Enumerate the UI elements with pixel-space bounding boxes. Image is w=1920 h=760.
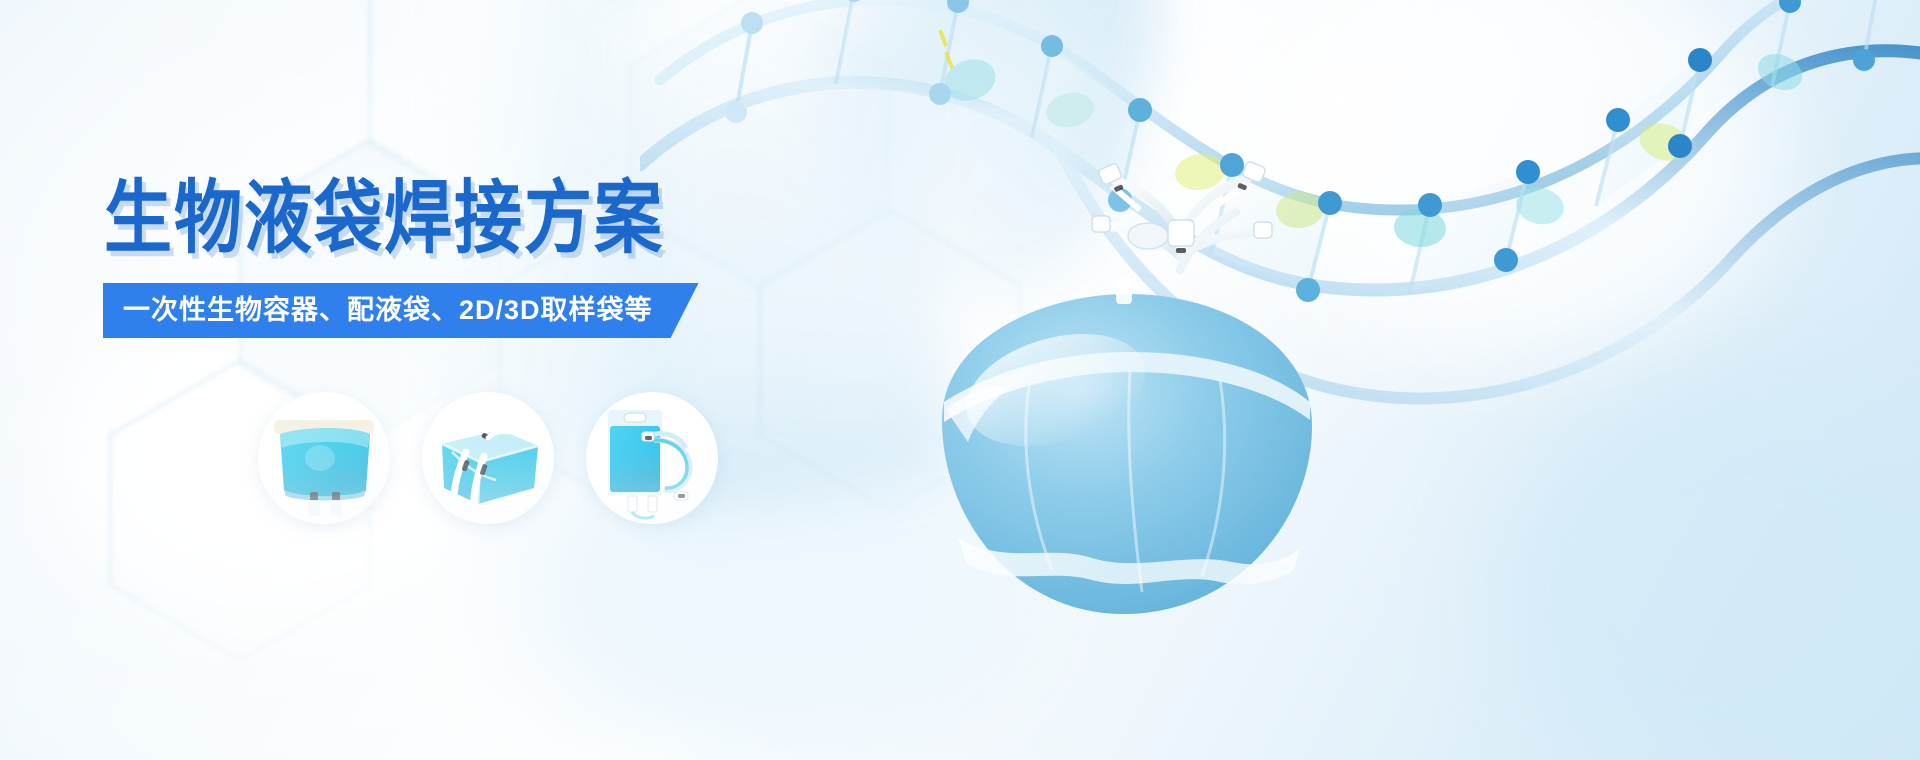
product-thumbnail-pillow-liquid-bag[interactable] [258,392,390,524]
hero-banner: 生物液袋焊接方案 一次性生物容器、配液袋、2D/3D取样袋等 [0,0,1920,760]
sampling-bag-with-tubing-icon [586,392,718,524]
pillow-liquid-bag-icon [258,392,390,524]
cube-3d-bag-icon [422,392,554,524]
subtitle-text: 一次性生物容器、配液袋、2D/3D取样袋等 [123,297,653,324]
inflated-bioreactor-bag [880,270,1360,660]
page-title: 生物液袋焊接方案 [104,178,664,258]
product-thumbnail-sampling-bag-with-tubing[interactable] [586,392,718,524]
product-thumbnail-cube-3d-bag[interactable] [422,392,554,524]
product-thumbnail-list [258,392,718,524]
subtitle-banner: 一次性生物容器、配液袋、2D/3D取样袋等 [103,283,699,338]
